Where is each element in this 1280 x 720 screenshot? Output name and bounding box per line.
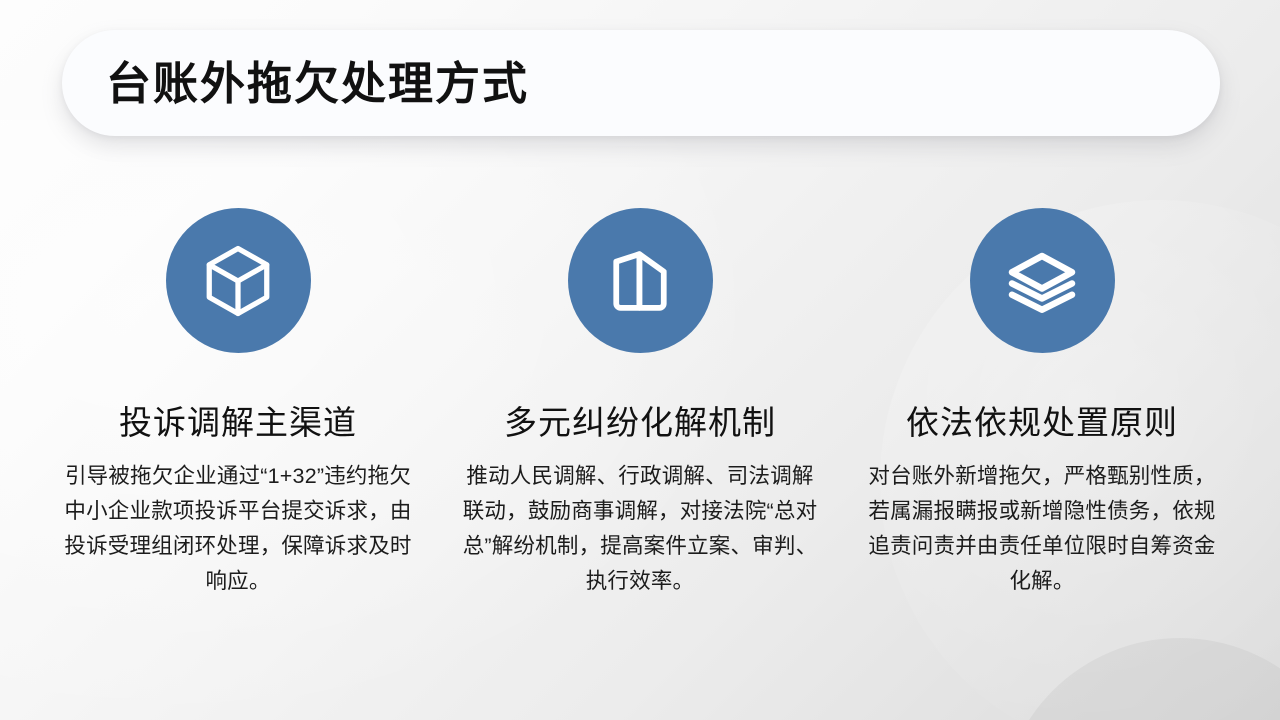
cube-icon bbox=[198, 241, 278, 321]
buildings-icon bbox=[600, 241, 680, 321]
feature-heading-3: 依法依规处置原则 bbox=[906, 405, 1178, 441]
feature-body-3: 对台账外新增拖欠，严格甄别性质，若属漏报瞒报或新增隐性债务，依规追责问责并由责任… bbox=[858, 459, 1226, 598]
feature-columns: 投诉调解主渠道 引导被拖欠企业通过“1+32”违约拖欠中小企业款项投诉平台提交诉… bbox=[0, 208, 1280, 599]
feature-body-1: 引导被拖欠企业通过“1+32”违约拖欠中小企业款项投诉平台提交诉求，由投诉受理组… bbox=[55, 459, 421, 598]
icon-badge-3 bbox=[970, 208, 1115, 353]
icon-badge-1 bbox=[166, 208, 311, 353]
feature-heading-2: 多元纠纷化解机制 bbox=[504, 405, 776, 441]
feature-body-2: 推动人民调解、行政调解、司法调解联动，鼓励商事调解，对接法院“总对总”解纷机制，… bbox=[461, 459, 819, 598]
feature-column-3: 依法依规处置原则 对台账外新增拖欠，严格甄别性质，若属漏报瞒报或新增隐性债务，依… bbox=[852, 208, 1232, 599]
title-card: 台账外拖欠处理方式 bbox=[62, 30, 1220, 136]
page-title: 台账外拖欠处理方式 bbox=[106, 61, 529, 106]
feature-column-1: 投诉调解主渠道 引导被拖欠企业通过“1+32”违约拖欠中小企业款项投诉平台提交诉… bbox=[48, 208, 428, 599]
slide-root: 台账外拖欠处理方式 投诉调解主渠道 引导被拖欠企业通过“1+32”违约拖欠中小企… bbox=[0, 0, 1280, 720]
icon-badge-2 bbox=[568, 208, 713, 353]
background-circle-decoration bbox=[1000, 638, 1280, 720]
feature-heading-1: 投诉调解主渠道 bbox=[119, 405, 357, 441]
feature-column-2: 多元纠纷化解机制 推动人民调解、行政调解、司法调解联动，鼓励商事调解，对接法院“… bbox=[450, 208, 830, 599]
layers-icon bbox=[1002, 241, 1082, 321]
